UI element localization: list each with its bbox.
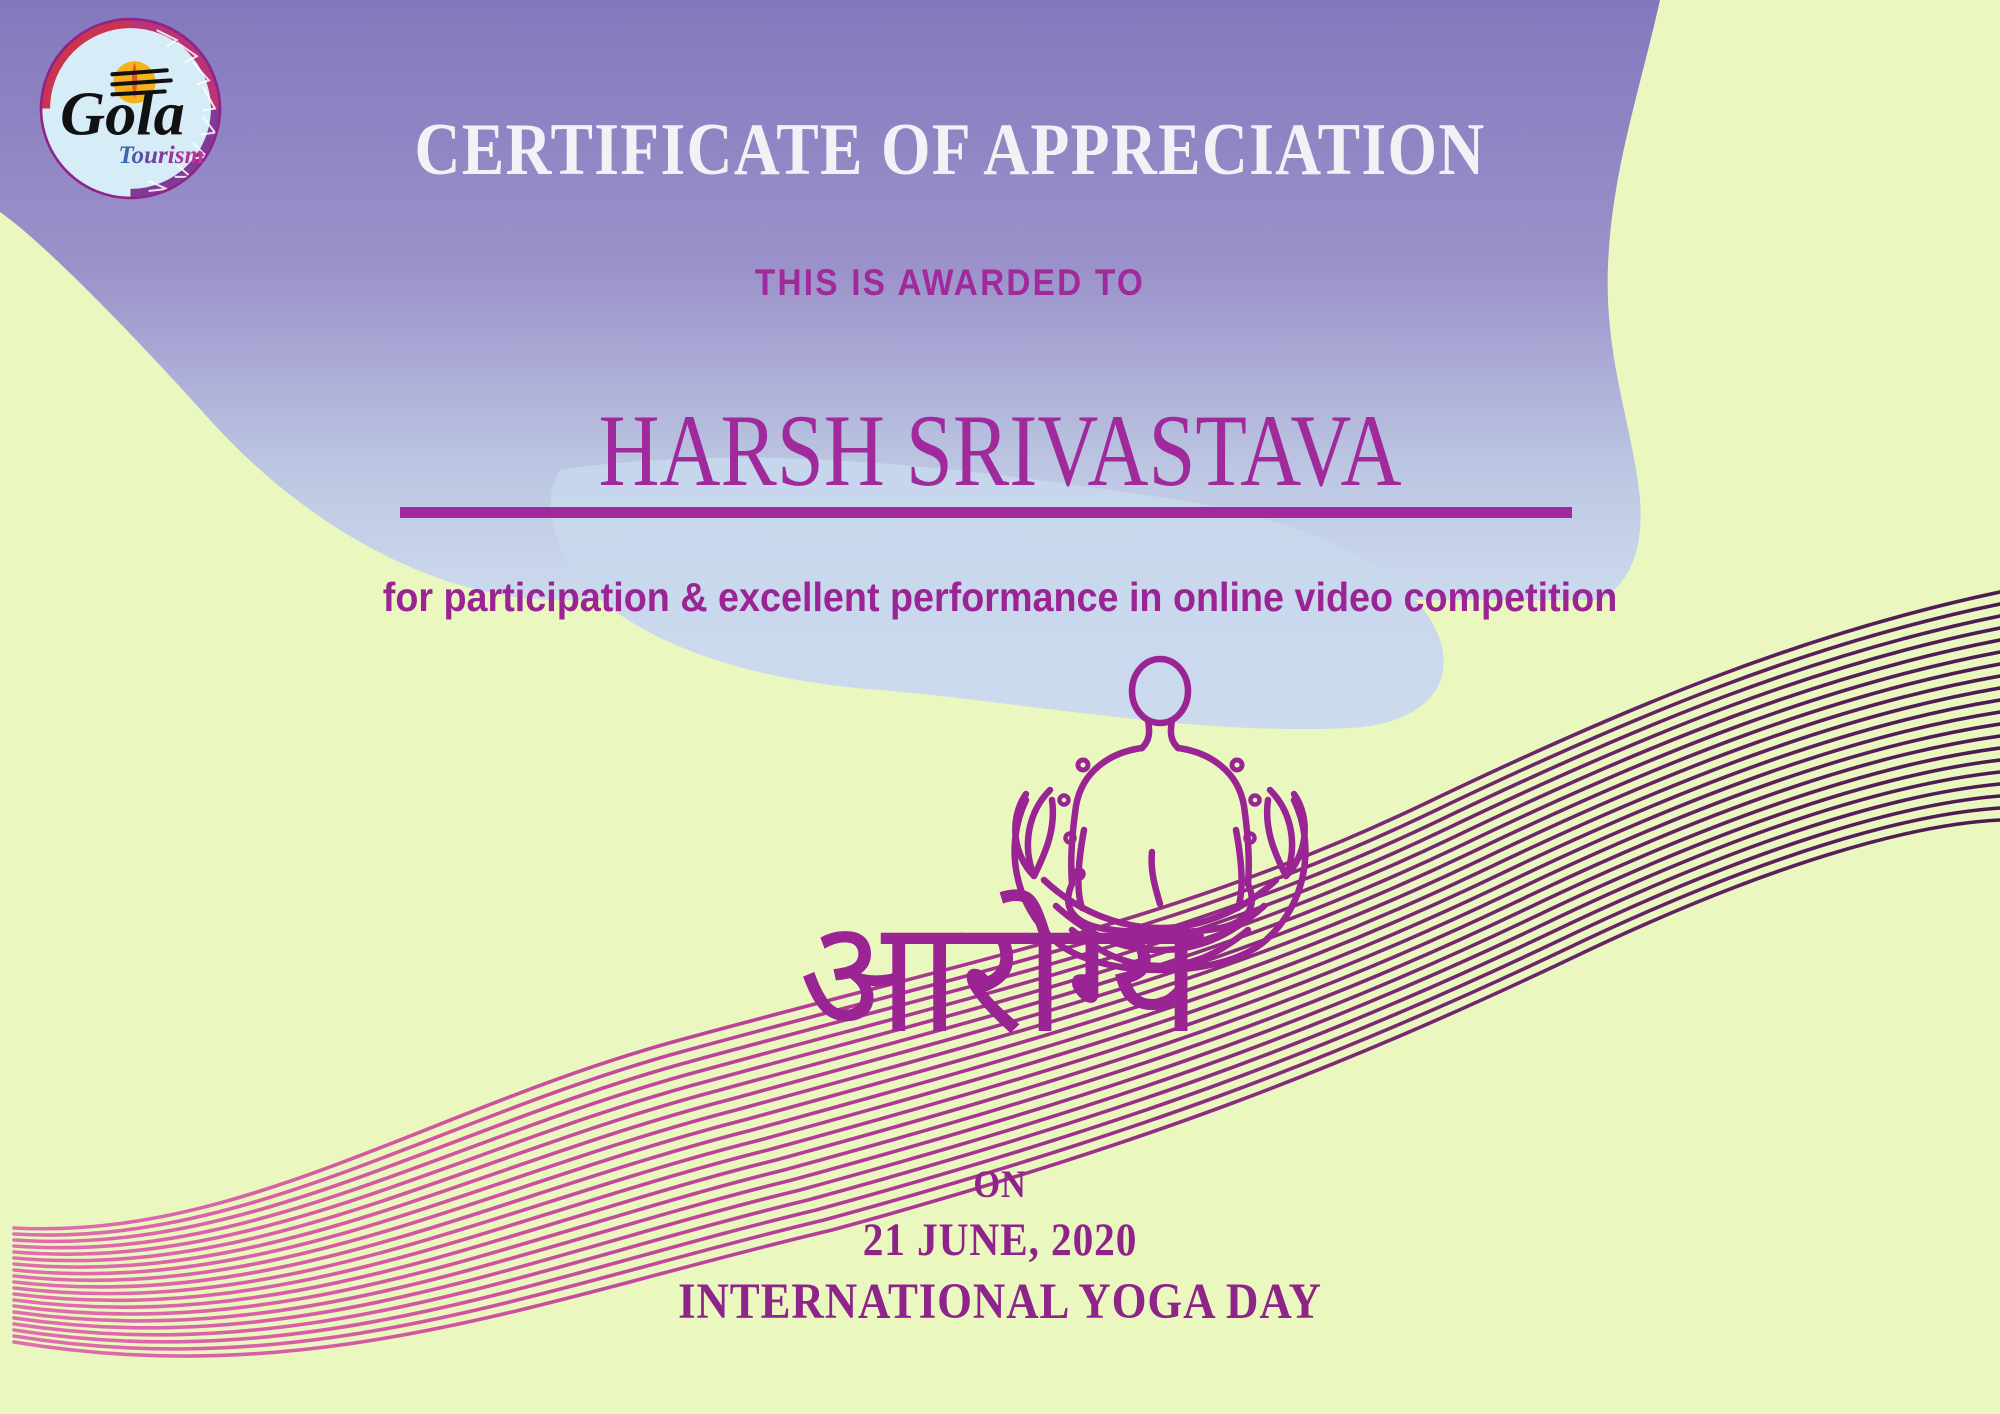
awarded-to-label: THIS IS AWARDED TO xyxy=(320,262,1580,304)
footer-occasion: INTERNATIONAL YOGA DAY xyxy=(472,1273,1528,1331)
logo-brand-text: Gola xyxy=(60,80,185,149)
certificate-canvas: Gola Tourism CERTIFICATE OF APPRECIATION… xyxy=(0,0,2000,1414)
footer-on-label: ON xyxy=(472,1162,1528,1207)
certificate-title: CERTIFICATE OF APPRECIATION xyxy=(348,108,1552,193)
recipient-name-rule xyxy=(400,507,1572,518)
footer-date: 21 JUNE, 2020 xyxy=(472,1213,1528,1267)
award-reason: for participation & excellent performanc… xyxy=(218,574,1782,621)
certificate-footer: ON 21 JUNE, 2020 INTERNATIONAL YOGA DAY xyxy=(400,1162,1600,1331)
aarogya-wordmark: आरोग्य xyxy=(500,900,1500,1058)
logo-tagline-text: Tourism xyxy=(118,142,204,169)
recipient-name: HARSH SRIVASTAVA xyxy=(385,392,1615,510)
gola-tourism-logo: Gola Tourism xyxy=(38,16,223,201)
